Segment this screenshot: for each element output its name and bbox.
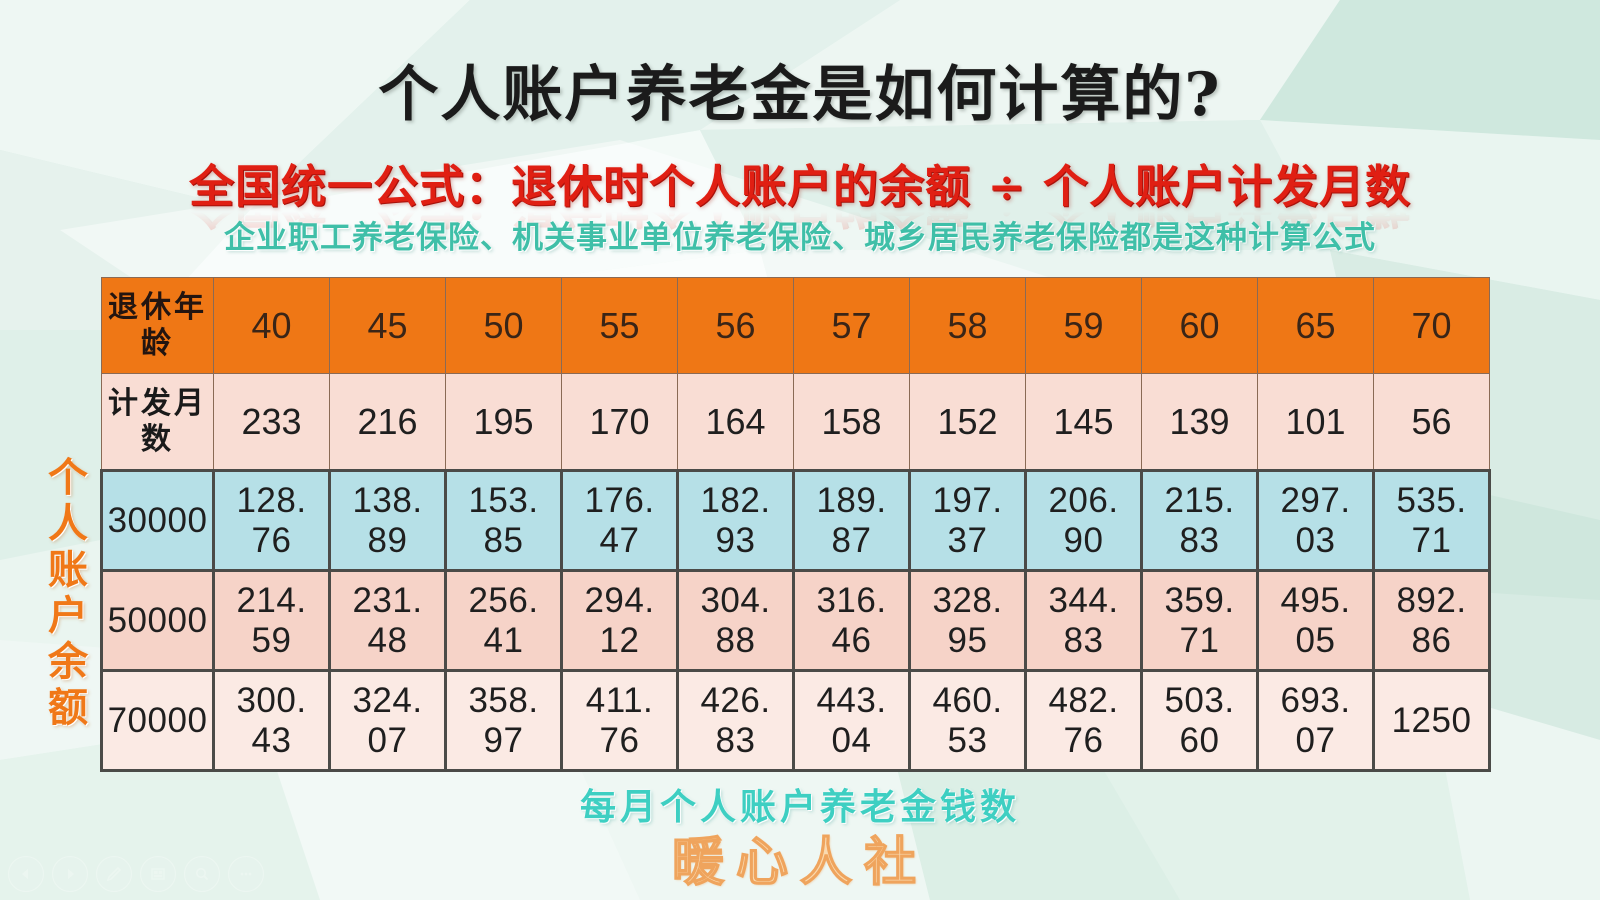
table-row: 50000 214. 59 231. 48 256. 41 294. 12 30… [102, 571, 1490, 671]
pension-cell: 215. 83 [1142, 471, 1258, 571]
months-cell: 164 [678, 374, 794, 471]
grid-icon [149, 865, 167, 883]
pension-cell: 294. 12 [562, 571, 678, 671]
pension-cell: 176. 47 [562, 471, 678, 571]
months-cell: 56 [1374, 374, 1490, 471]
pension-cell: 344. 83 [1026, 571, 1142, 671]
pension-cell: 256. 41 [446, 571, 562, 671]
pension-cell: 443. 04 [794, 671, 910, 771]
pension-cell: 328. 95 [910, 571, 1026, 671]
pension-cell: 460. 53 [910, 671, 1026, 771]
age-cell: 56 [678, 278, 794, 374]
vertical-label-char: 个 [40, 455, 96, 501]
pension-cell: 359. 71 [1142, 571, 1258, 671]
months-cell: 101 [1258, 374, 1374, 471]
months-cell: 152 [910, 374, 1026, 471]
age-cell: 58 [910, 278, 1026, 374]
search-icon [193, 865, 211, 883]
age-cell: 59 [1026, 278, 1142, 374]
page-title: 个人账户养老金是如何计算的? [0, 46, 1600, 133]
pension-cell: 358. 97 [446, 671, 562, 771]
vertical-axis-label: 个 人 账 户 余 额 [40, 455, 96, 731]
months-cell: 139 [1142, 374, 1258, 471]
pension-cell: 892. 86 [1374, 571, 1490, 671]
pension-cell: 495. 05 [1258, 571, 1374, 671]
age-cell: 60 [1142, 278, 1258, 374]
table-row-retirement-age: 退休年龄 40 45 50 55 56 57 58 59 60 65 70 [102, 278, 1490, 374]
pension-cell: 128. 76 [214, 471, 330, 571]
balance-cell: 50000 [102, 571, 214, 671]
formula-subnote: 企业职工养老保险、机关事业单位养老保险、城乡居民养老保险都是这种计算公式 [0, 212, 1600, 257]
zoom-tool-button[interactable] [184, 856, 220, 892]
pension-cell: 1250 [1374, 671, 1490, 771]
balance-cell: 30000 [102, 471, 214, 571]
months-cell: 145 [1026, 374, 1142, 471]
pension-cell: 426. 83 [678, 671, 794, 771]
pension-cell: 324. 07 [330, 671, 446, 771]
months-cell: 216 [330, 374, 446, 471]
presentation-toolbar[interactable] [8, 856, 264, 892]
pension-cell: 182. 93 [678, 471, 794, 571]
pension-cell: 231. 48 [330, 571, 446, 671]
pension-cell: 411. 76 [562, 671, 678, 771]
months-cell: 170 [562, 374, 678, 471]
months-cell: 233 [214, 374, 330, 471]
balance-cell: 70000 [102, 671, 214, 771]
pension-cell: 693. 07 [1258, 671, 1374, 771]
age-cell: 55 [562, 278, 678, 374]
age-cell: 70 [1374, 278, 1490, 374]
pension-cell: 206. 90 [1026, 471, 1142, 571]
age-cell: 50 [446, 278, 562, 374]
pension-cell: 482. 76 [1026, 671, 1142, 771]
table-row: 70000 300. 43 324. 07 358. 97 411. 76 42… [102, 671, 1490, 771]
pension-cell: 214. 59 [214, 571, 330, 671]
chevron-right-icon [62, 866, 78, 882]
chevron-left-icon [18, 866, 34, 882]
formula-text: 全国统一公式：退休时个人账户的余额 ÷ 个人账户计发月数 [189, 160, 1411, 213]
pen-tool-button[interactable] [96, 856, 132, 892]
next-slide-button[interactable] [52, 856, 88, 892]
pension-table: 退休年龄 40 45 50 55 56 57 58 59 60 65 70 计发… [100, 277, 1491, 772]
pension-cell: 316. 46 [794, 571, 910, 671]
ellipsis-icon [237, 865, 255, 883]
previous-slide-button[interactable] [8, 856, 44, 892]
months-cell: 195 [446, 374, 562, 471]
age-cell: 45 [330, 278, 446, 374]
vertical-label-char: 户 [40, 593, 96, 639]
age-cell: 57 [794, 278, 910, 374]
vertical-label-char: 账 [40, 547, 96, 593]
vertical-label-char: 余 [40, 639, 96, 685]
table-row-payout-months: 计发月数 233 216 195 170 164 158 152 145 139… [102, 374, 1490, 471]
pension-cell: 153. 85 [446, 471, 562, 571]
months-cell: 158 [794, 374, 910, 471]
vertical-label-char: 额 [40, 685, 96, 731]
age-cell: 40 [214, 278, 330, 374]
vertical-label-char: 人 [40, 501, 96, 547]
pen-icon [105, 865, 123, 883]
row-header-retirement-age: 退休年龄 [102, 278, 214, 374]
row-header-payout-months: 计发月数 [102, 374, 214, 471]
pension-cell: 189. 87 [794, 471, 910, 571]
pension-cell: 300. 43 [214, 671, 330, 771]
pension-cell: 297. 03 [1258, 471, 1374, 571]
pension-cell: 535. 71 [1374, 471, 1490, 571]
age-cell: 65 [1258, 278, 1374, 374]
pension-cell: 138. 89 [330, 471, 446, 571]
pension-cell: 197. 37 [910, 471, 1026, 571]
slide-overview-button[interactable] [140, 856, 176, 892]
table-row: 30000 128. 76 138. 89 153. 85 176. 47 18… [102, 471, 1490, 571]
more-options-button[interactable] [228, 856, 264, 892]
pension-cell: 304. 88 [678, 571, 794, 671]
pension-cell: 503. 60 [1142, 671, 1258, 771]
